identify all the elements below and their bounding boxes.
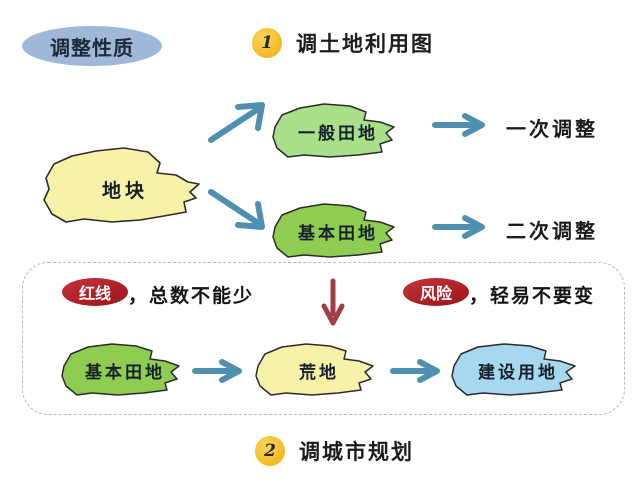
- title-badge-label: 调整性质: [50, 32, 134, 61]
- parcel-shape-basic-farmland-bottom: [58, 340, 188, 400]
- arrow-wasteland-to-construction-land: [390, 358, 444, 384]
- arrow-down-to-conversion-row: [320, 278, 346, 328]
- note-tag-red-line-label: 红线: [79, 280, 111, 304]
- parcel-source-landplot: 地块: [36, 140, 206, 230]
- arrow-basic-farmland-to-wasteland: [192, 358, 246, 384]
- parcel-shape-wasteland: [252, 340, 382, 400]
- arrow-source-to-basic-farmland: [208, 186, 270, 232]
- arrow-source-to-general-farmland: [208, 100, 270, 146]
- outcome-first-adjustment: 一次调整: [506, 113, 598, 142]
- parcel-basic-farmland-top: 基本田地: [268, 200, 404, 262]
- outcome-second-adjustment: 二次调整: [506, 215, 598, 244]
- parcel-construction-land: 建设用地: [448, 340, 584, 400]
- parcel-shape-source: [36, 140, 206, 230]
- parcel-general-farmland: 一般田地: [268, 100, 404, 162]
- step-2-badge: 2: [255, 436, 285, 466]
- parcel-shape-general-farmland: [268, 100, 404, 162]
- step-1-badge: 1: [252, 28, 282, 58]
- step-2: 2 调城市规划: [255, 436, 414, 466]
- note-tag-risk: 风险: [403, 278, 469, 306]
- step-2-label: 调城市规划: [299, 436, 414, 466]
- parcel-shape-basic-farmland-top: [268, 200, 404, 262]
- title-badge-adjust-nature: 调整性质: [22, 26, 162, 66]
- step-1: 1 调土地利用图: [252, 28, 434, 58]
- parcel-basic-farmland-bottom: 基本田地: [58, 340, 188, 400]
- note-text-red-line: ，总数不能少: [128, 281, 254, 308]
- arrow-basic-farmland-to-second-adjustment: [432, 214, 490, 240]
- parcel-shape-construction-land: [448, 340, 584, 400]
- arrow-general-farmland-to-first-adjustment: [432, 112, 490, 138]
- note-tag-red-line: 红线: [62, 278, 128, 306]
- note-text-risk: ，轻易不要变: [469, 281, 595, 308]
- parcel-wasteland: 荒地: [252, 340, 382, 400]
- note-tag-risk-label: 风险: [420, 280, 452, 304]
- step-1-label: 调土地利用图: [296, 28, 434, 58]
- diagram-canvas: 调整性质 1 调土地利用图 地块 一般田地: [0, 0, 640, 480]
